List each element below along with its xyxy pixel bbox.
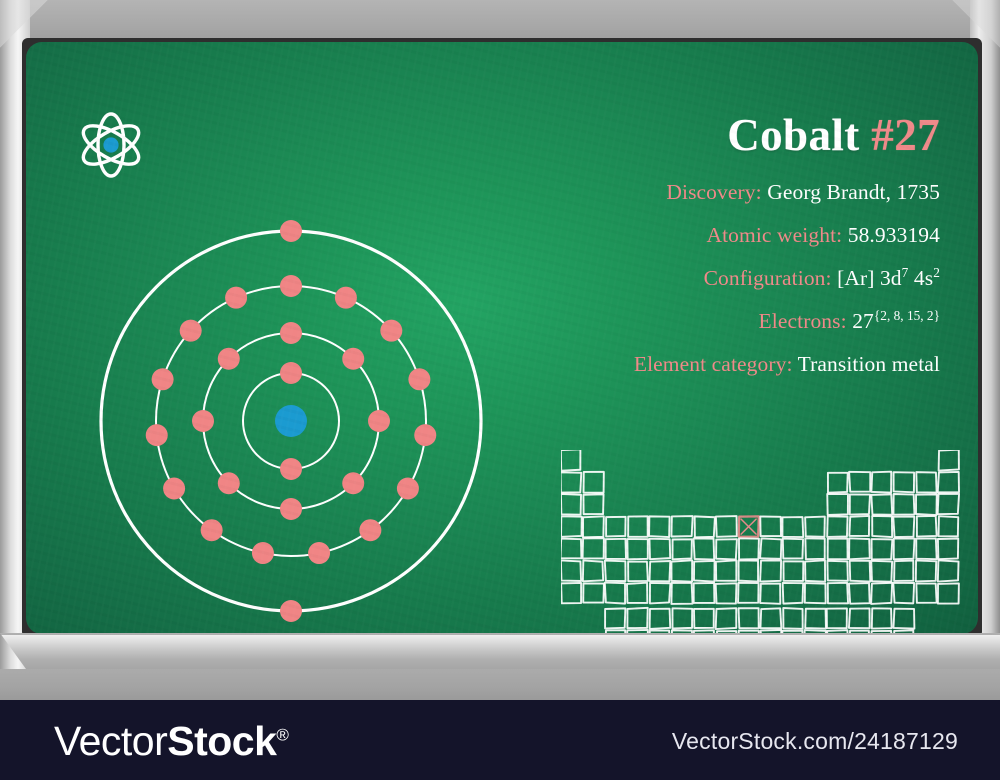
ptable-cell-r6-c6 bbox=[671, 560, 692, 581]
category-value: Transition metal bbox=[798, 352, 940, 376]
discovery-label: Discovery: bbox=[666, 180, 761, 204]
electron-shell3-9 bbox=[252, 542, 274, 564]
ptable-cell-r5-c2 bbox=[583, 538, 604, 558]
ptable-cell-r4-c10 bbox=[760, 516, 781, 536]
ptable-cell-r6-c9 bbox=[739, 560, 759, 581]
brand-bold: Stock bbox=[167, 718, 276, 764]
category-row: Element category: Transition metal bbox=[320, 351, 940, 379]
electron-shell2-6 bbox=[218, 472, 240, 494]
ptable-cell-r6-c13 bbox=[827, 561, 847, 581]
ptable-cell-r4-c8 bbox=[716, 516, 737, 537]
electron-shells: {2, 8, 15, 2} bbox=[874, 307, 940, 322]
atomic-weight-label: Atomic weight: bbox=[706, 223, 842, 247]
ptable-cell-r7-c10 bbox=[760, 584, 780, 604]
configuration-superscript-s: 2 bbox=[933, 265, 940, 280]
ptable-cell-r5-c16 bbox=[894, 539, 915, 560]
ptable-cell-r5-c17 bbox=[916, 538, 936, 559]
ptable-cell-r4-c13 bbox=[827, 516, 847, 537]
ptable-cell-r4-c6 bbox=[671, 516, 692, 536]
ptable-cell-r5-c11 bbox=[783, 539, 803, 559]
configuration-row: Configuration: [Ar] 3d7 4s2 bbox=[320, 265, 940, 293]
ptable-cell-r7-c8 bbox=[716, 583, 737, 603]
ptable-cell-r4-c17 bbox=[917, 516, 937, 537]
ptable-cell-r6-c2 bbox=[583, 560, 603, 581]
ptable-cell-r6-c4 bbox=[628, 562, 648, 581]
ptable-cell-r2-c16 bbox=[894, 472, 915, 492]
ptable-cell-r7-c3 bbox=[605, 583, 625, 604]
ptable-cell-r6-c3 bbox=[605, 561, 626, 582]
watermark-url: VectorStock.com/24187129 bbox=[672, 728, 958, 755]
chalkboard-frame: Cobalt #27 Discovery: Georg Brandt, 1735… bbox=[0, 0, 1000, 700]
ptable-cell-r4-c7 bbox=[695, 516, 715, 537]
watermark-bar: VectorStock® VectorStock.com/24187129 bbox=[0, 700, 1000, 780]
ptable-cell-fblock-r8-c14 bbox=[849, 608, 870, 628]
ptable-cell-r4-c3 bbox=[606, 517, 625, 537]
ptable-cell-r1-c18 bbox=[939, 450, 959, 471]
ptable-cell-r3-c18 bbox=[938, 494, 959, 514]
electron-shell2-3 bbox=[368, 410, 390, 432]
ptable-cell-r5-c7 bbox=[694, 538, 715, 559]
electron-shell2-8 bbox=[218, 348, 240, 370]
electron-shell3-13 bbox=[152, 368, 174, 390]
ptable-cell-r4-c4 bbox=[628, 516, 648, 537]
chalk-ledge-front bbox=[0, 669, 1000, 700]
ptable-cell-fblock-r8-c9 bbox=[739, 608, 759, 628]
electron-shell3-15 bbox=[225, 287, 247, 309]
ptable-cell-r6-c7 bbox=[694, 561, 715, 582]
ptable-cell-r3-c15 bbox=[871, 494, 892, 514]
ptable-cell-r7-c5 bbox=[650, 583, 670, 604]
electron-shell3-10 bbox=[201, 519, 223, 541]
category-label: Element category: bbox=[634, 352, 793, 376]
electrons-label: Electrons: bbox=[759, 309, 847, 333]
ptable-cell-r3-c1 bbox=[561, 494, 581, 515]
mini-periodic-table bbox=[561, 450, 978, 634]
ptable-cell-r7-c16 bbox=[893, 583, 914, 604]
ptable-cell-r7-c6 bbox=[671, 583, 692, 604]
ptable-cell-r7-c18 bbox=[938, 583, 959, 603]
ptable-cell-r3-c2 bbox=[583, 494, 603, 514]
ptable-cell-r7-c12 bbox=[805, 583, 826, 603]
ptable-cell-r5-c12 bbox=[805, 538, 824, 559]
ptable-cell-r7-c11 bbox=[783, 583, 803, 604]
ptable-cell-fblock-r8-c15 bbox=[872, 608, 892, 628]
ptable-cell-r5-c5 bbox=[649, 539, 670, 560]
discovery-value: Georg Brandt, 1735 bbox=[767, 180, 940, 204]
ptable-cell-r5-c6 bbox=[673, 539, 692, 559]
electron-shell2-5 bbox=[280, 498, 302, 520]
configuration-mid: 4s bbox=[908, 266, 933, 290]
electron-shell3-1 bbox=[280, 275, 302, 297]
electron-shell1-1 bbox=[280, 362, 302, 384]
ptable-cell-r2-c18 bbox=[938, 472, 959, 492]
ptable-cell-r6-c12 bbox=[805, 560, 825, 581]
electron-shell2-4 bbox=[342, 472, 364, 494]
ptable-cell-r5-c13 bbox=[828, 538, 848, 559]
electrons-row: Electrons: 27{2, 8, 15, 2} bbox=[320, 308, 940, 336]
ptable-cell-r7-c4 bbox=[627, 583, 647, 603]
ptable-cell-r4-c16 bbox=[893, 517, 914, 538]
ptable-cell-r6-c8 bbox=[716, 560, 736, 580]
ptable-cell-r7-c9 bbox=[738, 583, 759, 603]
brand-light: Vector bbox=[54, 718, 167, 764]
ptable-cell-r4-c1 bbox=[561, 516, 582, 537]
ptable-cell-r5-c10 bbox=[760, 538, 781, 558]
ptable-cell-r7-c14 bbox=[849, 583, 870, 604]
electron-shell3-14 bbox=[180, 320, 202, 342]
ptable-cell-fblock-r8-c6 bbox=[672, 608, 692, 628]
atom-icon bbox=[72, 106, 150, 184]
element-name: Cobalt bbox=[727, 110, 859, 160]
electron-shell3-12 bbox=[146, 424, 168, 446]
ptable-cell-r1-c1 bbox=[561, 450, 580, 471]
ptable-cell-r5-c9 bbox=[739, 538, 759, 559]
atomic-weight-row: Atomic weight: 58.933194 bbox=[320, 222, 940, 250]
ptable-cell-r4-c11 bbox=[782, 517, 803, 537]
electron-shell3-11 bbox=[163, 478, 185, 500]
ptable-cell-fblock-r8-c8 bbox=[716, 608, 737, 629]
electron-shell3-5 bbox=[414, 424, 436, 446]
ptable-cell-r3-c17 bbox=[916, 494, 937, 515]
ptable-cell-r6-c14 bbox=[850, 561, 871, 582]
ptable-cell-r6-c15 bbox=[871, 561, 892, 582]
electron-shell3-7 bbox=[359, 519, 381, 541]
ptable-cell-r6-c1 bbox=[561, 560, 581, 581]
ptable-cell-r7-c1 bbox=[561, 583, 581, 603]
ptable-cell-r3-c14 bbox=[850, 494, 870, 514]
ptable-cell-r4-c18 bbox=[939, 516, 959, 536]
atomic-number: #27 bbox=[871, 110, 940, 160]
ptable-cell-r4-c2 bbox=[583, 516, 604, 537]
ptable-cell-r5-c8 bbox=[716, 539, 737, 559]
configuration-label: Configuration: bbox=[704, 266, 832, 290]
ptable-cell-fblock-r8-c5 bbox=[650, 609, 671, 629]
ptable-cell-r7-c15 bbox=[871, 583, 892, 604]
electron-shell4-1 bbox=[280, 220, 302, 242]
highlight-x-icon bbox=[741, 519, 756, 534]
ptable-cell-r5-c3 bbox=[606, 539, 626, 559]
element-info-panel: Cobalt #27 Discovery: Georg Brandt, 1735… bbox=[320, 112, 940, 393]
page-title: Cobalt #27 bbox=[320, 112, 940, 159]
ptable-cell-r6-c10 bbox=[760, 560, 781, 581]
chalk-ledge bbox=[0, 633, 1000, 700]
electron-shell3-6 bbox=[397, 478, 419, 500]
configuration-value: [Ar] 3d7 4s2 bbox=[837, 266, 940, 290]
ptable-cell-fblock-r8-c13 bbox=[827, 608, 847, 628]
discovery-row: Discovery: Georg Brandt, 1735 bbox=[320, 179, 940, 207]
ptable-cell-fblock-r8-c11 bbox=[783, 608, 802, 629]
ptable-cell-fblock-r8-c16 bbox=[893, 609, 914, 629]
registered-icon: ® bbox=[276, 725, 288, 744]
electron-shell1-2 bbox=[280, 458, 302, 480]
ptable-cell-r4-c15 bbox=[872, 516, 892, 537]
ptable-cell-r7-c7 bbox=[694, 583, 715, 603]
ptable-cell-fblock-r8-c12 bbox=[805, 609, 826, 629]
ptable-cell-r7-c17 bbox=[916, 584, 936, 603]
electrons-value: 27 bbox=[852, 309, 874, 333]
ptable-cell-r2-c13 bbox=[828, 473, 848, 493]
ptable-cell-fblock-r8-c4 bbox=[627, 608, 647, 628]
ptable-cell-r4-c14 bbox=[849, 516, 869, 536]
ptable-cell-r4-c5 bbox=[649, 516, 670, 537]
ptable-cell-r7-c2 bbox=[583, 583, 604, 602]
ptable-cell-r2-c17 bbox=[916, 472, 936, 492]
vectorstock-logo: VectorStock® bbox=[54, 718, 288, 765]
electron-shell2-7 bbox=[192, 410, 214, 432]
ptable-cell-r4-c12 bbox=[805, 517, 825, 537]
ptable-cell-fblock-r8-c7 bbox=[694, 609, 714, 628]
chalk-ledge-top bbox=[0, 633, 1000, 669]
ptable-cell-r2-c14 bbox=[849, 472, 870, 492]
ptable-cell-r3-c16 bbox=[893, 494, 914, 515]
ptable-cell-fblock-r8-c3 bbox=[605, 608, 625, 628]
ptable-cell-r2-c15 bbox=[871, 472, 891, 493]
ptable-cell-r6-c5 bbox=[650, 561, 671, 581]
ptable-cell-r2-c2 bbox=[584, 472, 604, 493]
atom-icon-nucleus bbox=[103, 137, 118, 152]
ptable-cell-r5-c1 bbox=[561, 539, 581, 559]
ptable-cell-r6-c18 bbox=[938, 560, 959, 581]
ptable-cell-r6-c17 bbox=[916, 560, 936, 581]
ptable-cell-r6-c11 bbox=[783, 561, 803, 581]
configuration-core: [Ar] 3d bbox=[837, 266, 902, 290]
ptable-cell-r5-c18 bbox=[938, 538, 958, 559]
chalkboard-surface: Cobalt #27 Discovery: Georg Brandt, 1735… bbox=[26, 42, 978, 634]
electron-shell2-1 bbox=[280, 322, 302, 344]
electron-shell4-2 bbox=[280, 600, 302, 622]
ptable-cell-r5-c14 bbox=[849, 538, 870, 559]
ptable-cell-r2-c1 bbox=[561, 472, 581, 492]
ptable-cell-r3-c13 bbox=[827, 494, 848, 515]
ptable-cell-r7-c13 bbox=[828, 583, 848, 604]
ptable-cell-r5-c15 bbox=[872, 539, 893, 559]
ptable-cell-fblock-r8-c10 bbox=[760, 608, 781, 628]
ptable-cell-r5-c4 bbox=[627, 539, 647, 559]
electron-shell3-8 bbox=[308, 542, 330, 564]
nucleus bbox=[275, 405, 307, 437]
atomic-weight-value: 58.933194 bbox=[848, 223, 940, 247]
ptable-cell-highlight-cobalt bbox=[739, 516, 759, 536]
ptable-cell-r6-c16 bbox=[894, 561, 913, 581]
